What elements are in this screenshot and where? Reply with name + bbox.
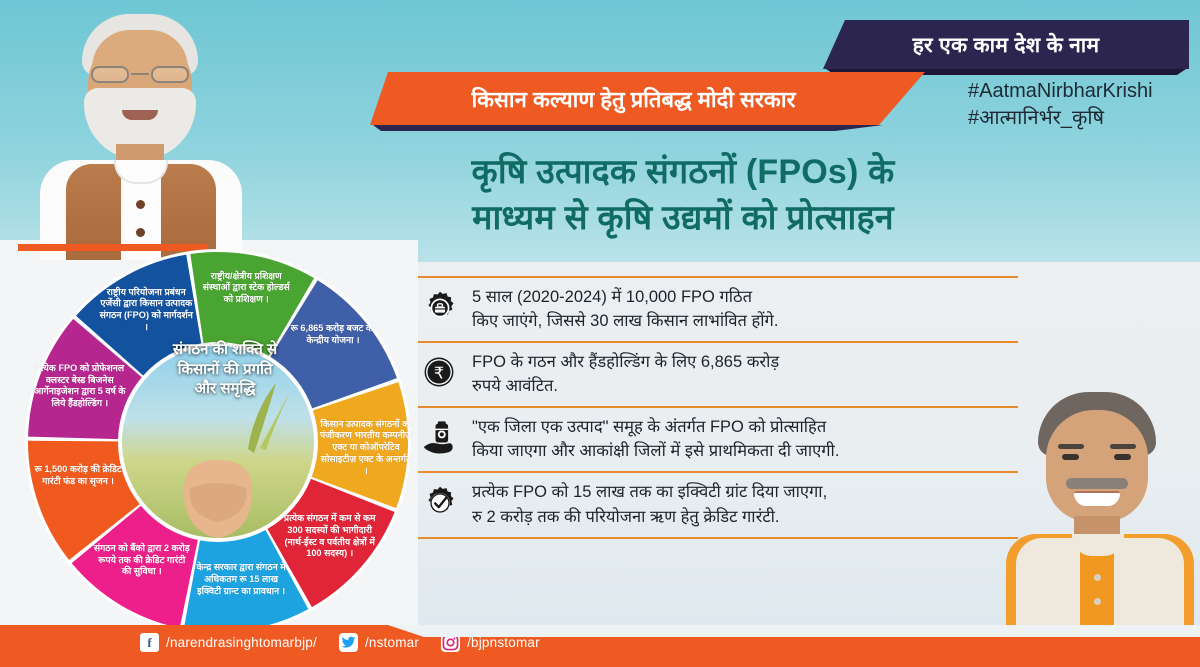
tomar-photo — [1000, 392, 1200, 625]
key-point-line1: FPO के गठन और हैंडहोल्डिंग के लिए 6,865 … — [472, 350, 1018, 374]
tomar-mouth — [1074, 491, 1120, 506]
key-point-line1: 5 साल (2020-2024) में 10,000 FPO गठित — [472, 285, 1018, 309]
key-point-line1: "एक जिला एक उत्पाद" समूह के अंतर्गत FPO … — [472, 415, 1018, 439]
instagram-handle: /bjpnstomar — [467, 635, 540, 650]
tomar-brow-left — [1058, 444, 1084, 449]
page-title-line2: माध्यम से कृषि उद्यमों को प्रोत्साहन — [338, 196, 1028, 242]
key-point-row: 5 साल (2020-2024) में 10,000 FPO गठित कि… — [418, 276, 1018, 341]
check-badge-icon — [422, 485, 458, 521]
facebook-icon: f — [140, 633, 159, 652]
hashtags: #AatmaNirbharKrishi #आत्मानिर्भर_कृषि — [968, 78, 1198, 132]
navy-banner-text: हर एक काम देश के नाम — [913, 31, 1100, 59]
tomar-button-1 — [1094, 574, 1101, 581]
rupee-coin-icon: ₹ — [422, 355, 458, 391]
orange-banner-shadow — [373, 125, 883, 131]
tomar-eye-left — [1062, 454, 1079, 460]
fpo-wheel-diagram: संगठन की शक्ति से किसानों की प्रगति और स… — [22, 248, 414, 636]
key-point-line2: किया जाएगा और आकांक्षी जिलों में इसे प्र… — [472, 439, 1018, 463]
instagram-link[interactable]: /bjpnstomar — [441, 633, 540, 652]
tomar-button-2 — [1094, 598, 1101, 605]
modi-button-2 — [136, 228, 145, 237]
page-title: कृषि उत्पादक संगठनों (FPOs) के माध्यम से… — [338, 150, 1028, 241]
key-point-text: प्रत्येक FPO को 15 लाख तक का इक्विटी ग्र… — [472, 480, 1018, 528]
wheel-svg — [22, 248, 414, 636]
hashtag-hindi: #आत्मानिर्भर_कृषि — [968, 105, 1198, 132]
twitter-link[interactable]: /nstomar — [339, 633, 419, 652]
twitter-handle: /nstomar — [365, 635, 419, 650]
page-title-line1: कृषि उत्पादक संगठनों (FPOs) के — [338, 150, 1028, 196]
key-point-line2: रुपये आवंटित. — [472, 374, 1018, 398]
hub-line3: और समृद्धि — [140, 379, 310, 399]
instagram-icon — [441, 633, 460, 652]
hashtag-english: #AatmaNirbharKrishi — [968, 78, 1198, 105]
hub-line2: किसानों की प्रगति — [140, 360, 310, 380]
social-footer: f /narendrasinghtomarbjp/ /nstomar /bjpn — [0, 625, 1200, 667]
key-point-row: "एक जिला एक उत्पाद" समूह के अंतर्गत FPO … — [418, 406, 1018, 471]
hub-line1: संगठन की शक्ति से — [140, 340, 310, 360]
key-point-line2: किए जाएंगे, जिससे 30 लाख किसान लाभांवित … — [472, 309, 1018, 333]
twitter-icon — [339, 633, 358, 652]
wheel-hub-text: संगठन की शक्ति से किसानों की प्रगति और स… — [140, 340, 310, 399]
navy-banner: हर एक काम देश के नाम — [823, 20, 1189, 69]
orange-banner-text: किसान कल्याण हेतु प्रतिबद्ध मोदी सरकार — [471, 84, 823, 114]
key-point-text: 5 साल (2020-2024) में 10,000 FPO गठित कि… — [472, 285, 1018, 333]
infographic-root: हर एक काम देश के नाम किसान कल्याण हेतु प… — [0, 0, 1200, 667]
svg-text:₹: ₹ — [434, 364, 444, 383]
tomar-eye-right — [1114, 454, 1131, 460]
key-point-line2: रु 2 करोड़ तक की परियोजना ऋण हेतु क्रेडि… — [472, 505, 1018, 529]
orange-banner: किसान कल्याण हेतु प्रतिबद्ध मोदी सरकार — [370, 72, 925, 125]
key-point-text: "एक जिला एक उत्पाद" समूह के अंतर्गत FPO … — [472, 415, 1018, 463]
key-points-list: 5 साल (2020-2024) में 10,000 FPO गठित कि… — [418, 276, 1018, 539]
key-point-text: FPO के गठन और हैंडहोल्डिंग के लिए 6,865 … — [472, 350, 1018, 398]
tomar-brow-right — [1110, 444, 1136, 449]
facebook-handle: /narendrasinghtomarbjp/ — [166, 635, 317, 650]
modi-button-1 — [136, 200, 145, 209]
key-point-row: ₹ FPO के गठन और हैंडहोल्डिंग के लिए 6,86… — [418, 341, 1018, 406]
modi-photo — [26, 14, 256, 260]
modi-mouth — [122, 110, 158, 120]
key-point-line1: प्रत्येक FPO को 15 लाख तक का इक्विटी ग्र… — [472, 480, 1018, 504]
hand-product-icon — [422, 420, 458, 456]
tomar-moustache — [1066, 478, 1128, 489]
facebook-link[interactable]: f /narendrasinghtomarbjp/ — [140, 633, 317, 652]
gear-basket-icon — [422, 290, 458, 326]
glasses-icon — [90, 66, 190, 83]
key-point-row: प्रत्येक FPO को 15 लाख तक का इक्विटी ग्र… — [418, 471, 1018, 538]
